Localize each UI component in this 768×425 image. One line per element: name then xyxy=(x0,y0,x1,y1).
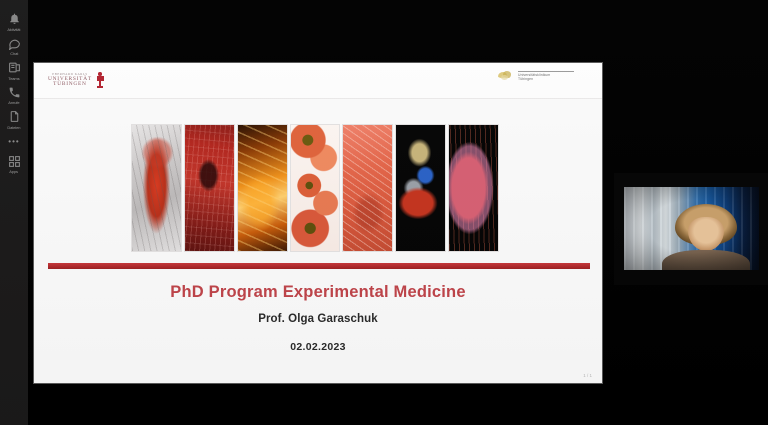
apps-grid-icon xyxy=(8,155,21,168)
slide-title: PhD Program Experimental Medicine xyxy=(34,283,602,302)
university-logo-line3: TÜBINGEN xyxy=(53,82,87,87)
university-wordmark: EBERHARD KARLS UNIVERSITÄT TÜBINGEN xyxy=(48,73,92,88)
strip-panel-3 xyxy=(237,124,288,252)
teams-left-rail[interactable]: Aktivität Chat Teams Anrufe Dateien xyxy=(0,0,28,425)
clinic-wordmark: Universitätsklinikum Tübingen xyxy=(518,70,574,81)
ellipsis-icon[interactable]: ••• xyxy=(8,132,19,152)
strip-panel-4 xyxy=(290,124,341,252)
sidebar-item-apps-label: Apps xyxy=(10,169,19,174)
teams-meeting-window: Aktivität Chat Teams Anrufe Dateien xyxy=(0,0,768,425)
sidebar-item-activity-label: Aktivität xyxy=(7,27,20,32)
shared-screen-container[interactable]: EBERHARD KARLS UNIVERSITÄT TÜBINGEN xyxy=(33,62,603,384)
clinic-emblem-icon xyxy=(498,70,514,81)
strip-panel-5 xyxy=(342,124,393,252)
file-icon xyxy=(8,110,21,123)
slide-divider-bar xyxy=(48,263,590,269)
sidebar-item-activity[interactable]: Aktivität xyxy=(0,9,28,34)
chat-icon xyxy=(8,37,21,50)
strip-panel-7 xyxy=(448,124,499,252)
sidebar-item-teams[interactable]: Teams xyxy=(0,58,28,83)
strip-panel-1 xyxy=(131,124,182,252)
slide-presenter: Prof. Olga Garaschuk xyxy=(34,313,602,325)
university-tuebingen-logo: EBERHARD KARLS UNIVERSITÄT TÜBINGEN xyxy=(48,72,104,89)
bell-icon xyxy=(8,12,21,25)
strip-panel-2 xyxy=(184,124,235,252)
participant-video-tile[interactable] xyxy=(614,173,768,285)
universitaetsklinikum-logo: Universitätsklinikum Tübingen xyxy=(498,70,574,81)
sidebar-item-apps[interactable]: Apps xyxy=(0,152,28,177)
university-crest-icon xyxy=(97,72,104,89)
sidebar-item-files[interactable]: Dateien xyxy=(0,107,28,132)
teams-icon xyxy=(8,61,21,74)
slide-date: 02.02.2023 xyxy=(34,341,602,353)
phone-icon xyxy=(8,86,21,99)
sidebar-item-teams-label: Teams xyxy=(8,76,19,81)
participant-video-feed xyxy=(624,187,759,270)
sidebar-item-calls-label: Anrufe xyxy=(8,100,19,105)
strip-panel-6 xyxy=(395,124,446,252)
presentation-slide: EBERHARD KARLS UNIVERSITÄT TÜBINGEN xyxy=(34,63,602,383)
sidebar-item-files-label: Dateien xyxy=(7,125,20,130)
video-vignette xyxy=(624,187,759,270)
sidebar-item-calls[interactable]: Anrufe xyxy=(0,83,28,108)
sidebar-item-chat[interactable]: Chat xyxy=(0,34,28,59)
clinic-logo-line2: Tübingen xyxy=(518,78,574,81)
slide-page-marker: 1 / 1 xyxy=(583,373,592,378)
sidebar-item-chat-label: Chat xyxy=(10,51,18,56)
slide-image-strip xyxy=(131,124,499,252)
meeting-stage: EBERHARD KARLS UNIVERSITÄT TÜBINGEN xyxy=(28,0,768,425)
